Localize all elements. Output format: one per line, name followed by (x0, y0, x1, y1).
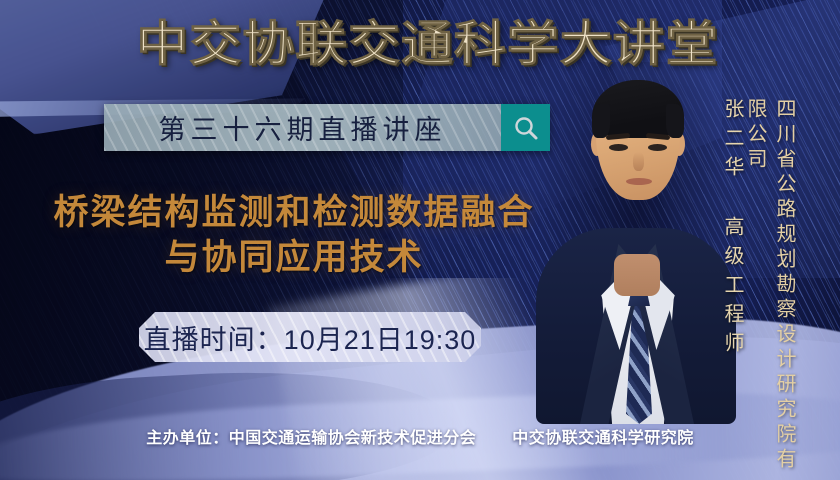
lecture-title: 桥梁结构监测和检测数据融合 与协同应用技术 (34, 190, 554, 280)
episode-label: 第三十六期直播讲座 (159, 108, 447, 147)
broadcast-time-label: 直播时间：10月21日19:30 (144, 318, 477, 357)
portrait-hair-sideburn-left (592, 104, 610, 138)
speaker-portrait (540, 54, 730, 424)
portrait-neck (614, 254, 660, 296)
search-icon[interactable] (501, 104, 550, 151)
portrait-eye-left (609, 144, 628, 151)
portrait-mouth (626, 178, 652, 185)
speaker-organization: 四川省公路规划勘察设计研究院有限公司 (763, 98, 799, 480)
portrait-nose (633, 152, 644, 171)
episode-banner: 第三十六期直播讲座 (104, 104, 550, 151)
footer-organizer-primary: 主办单位：中国交通运输协会新技术促进分会 (146, 430, 476, 447)
episode-banner-text-area: 第三十六期直播讲座 (104, 104, 501, 151)
portrait-hair-sideburn-right (666, 104, 684, 138)
lecture-title-line1: 桥梁结构监测和检测数据融合 (53, 193, 534, 232)
broadcast-time-badge: 直播时间：10月21日19:30 (139, 312, 481, 362)
portrait-eye-right (648, 144, 667, 151)
webinar-poster: 中交协联交通科学大讲堂 第三十六期直播讲座 桥梁结构监测和检测数据融合 与协同应… (0, 0, 840, 480)
footer-organizers: 主办单位：中国交通运输协会新技术促进分会 中交协联交通科学研究院 (0, 424, 840, 448)
main-title: 中交协联交通科学大讲堂 (0, 16, 840, 74)
footer-organizer-secondary: 中交协联交通科学研究院 (512, 430, 694, 447)
lecture-title-line2: 与协同应用技术 (34, 235, 554, 280)
